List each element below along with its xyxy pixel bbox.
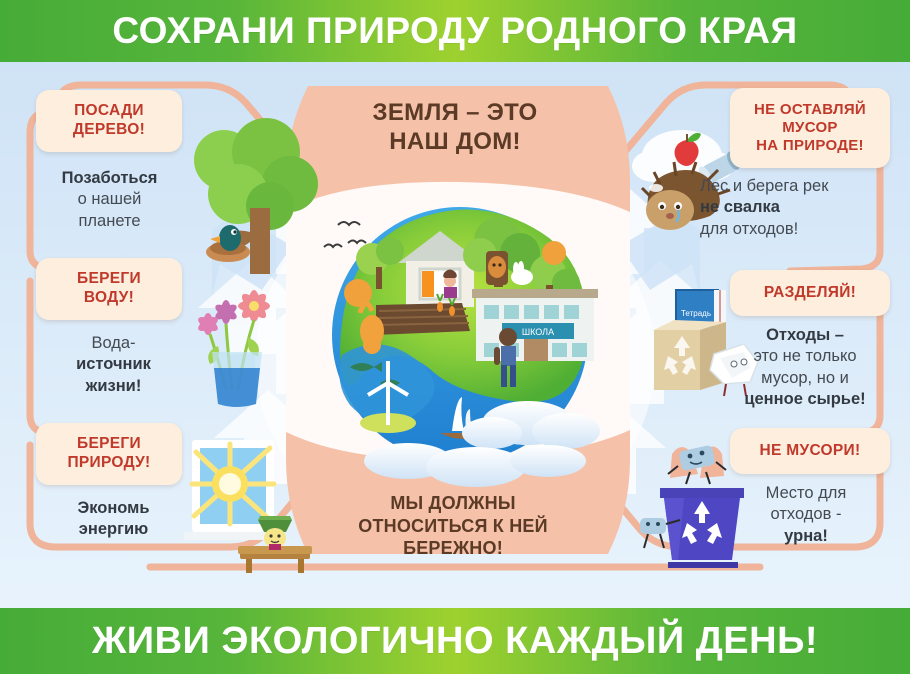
subtext-line2: о нашей (78, 190, 142, 208)
card-title-line2: ДЕРЕВО! (73, 121, 145, 140)
subtext-bold2: источник (76, 355, 151, 373)
card-title-line1: ПОСАДИ (73, 102, 145, 121)
center-footer: МЫ ДОЛЖНЫ ОТНОСИТЬСЯ К НЕЙ БЕРЕЖНО! (288, 492, 618, 560)
subtext-bold3: урна! (784, 527, 828, 545)
bottom-banner: ЖИВИ ЭКОЛОГИЧНО КАЖДЫЙ ДЕНЬ! (0, 608, 910, 674)
card-title-line1: РАЗДЕЛЯЙ! (764, 284, 856, 303)
card-title-line1: НЕ ОСТАВЛЯЙ (754, 101, 866, 119)
card-separate-waste-title: РАЗДЕЛЯЙ! (764, 284, 856, 303)
subtext-line3: планете (78, 212, 140, 230)
card-title-line1: БЕРЕГИ (77, 270, 141, 289)
subtext-line2: отходов - (771, 505, 842, 523)
subtext-line1: Вода- (91, 334, 135, 352)
center-title-line2: НАШ ДОМ! (300, 127, 610, 156)
card-separate-waste-subtext: Отходы – это не только мусор, но и ценно… (712, 325, 898, 411)
top-banner: СОХРАНИ ПРИРОДУ РОДНОГО КРАЯ (0, 0, 910, 62)
subtext-bold1: Отходы – (766, 326, 844, 344)
birds-icon (324, 222, 366, 247)
card-plant-a-tree[interactable]: ПОСАДИ ДЕРЕВО! (36, 90, 182, 152)
school-sign-label: ШКОЛА (522, 327, 554, 337)
subtext-bold: Позаботься (62, 169, 158, 187)
flower-icon (196, 290, 270, 335)
card-no-litter-in-nature-title: НЕ ОСТАВЛЯЙ МУСОР НА ПРИРОДЕ! (754, 101, 866, 155)
subtext-line3: мусор, но и (761, 369, 849, 387)
card-save-water[interactable]: БЕРЕГИ ВОДУ! (36, 258, 182, 320)
eco-poster: ШКОЛА (0, 0, 910, 674)
card-separate-waste[interactable]: РАЗДЕЛЯЙ! (730, 270, 890, 316)
earth-globe-illustration: ШКОЛА (280, 155, 640, 510)
center-title: ЗЕМЛЯ – ЭТО НАШ ДОМ! (300, 98, 610, 157)
center-footer-line1: МЫ ДОЛЖНЫ (288, 492, 618, 515)
card-save-water-title: БЕРЕГИ ВОДУ! (77, 270, 141, 307)
card-plant-a-tree-subtext: Позаботься о нашей планете (22, 168, 197, 232)
top-banner-text: СОХРАНИ ПРИРОДУ РОДНОГО КРАЯ (112, 10, 797, 52)
card-do-not-litter-subtext: Место для отходов - урна! (718, 483, 894, 547)
card-plant-a-tree-title: ПОСАДИ ДЕРЕВО! (73, 102, 145, 139)
card-title-line3: НА ПРИРОДЕ! (754, 137, 866, 155)
subtext-bold2: не свалка (700, 198, 780, 216)
dog-icon (486, 251, 508, 285)
card-title-line2: МУСОР (754, 119, 866, 137)
card-save-nature-subtext: Экономь энергию (26, 498, 201, 541)
card-save-water-subtext: Вода- источник жизни! (26, 333, 201, 397)
card-save-nature[interactable]: БЕРЕГИ ПРИРОДУ! (36, 423, 182, 485)
subtext-bold3: жизни! (86, 377, 142, 395)
subtext-line1: Место для (766, 484, 847, 502)
card-no-litter-in-nature[interactable]: НЕ ОСТАВЛЯЙ МУСОР НА ПРИРОДЕ! (730, 88, 890, 168)
subtext-line3: для отходов! (700, 220, 798, 238)
subtext-line1: Лес и берега рек (700, 177, 828, 195)
card-do-not-litter-title: НЕ МУСОРИ! (760, 442, 861, 461)
subtext-line2: это не только (753, 347, 856, 365)
center-title-line1: ЗЕМЛЯ – ЭТО (300, 98, 610, 127)
card-do-not-litter[interactable]: НЕ МУСОРИ! (730, 428, 890, 474)
card-title-line2: ПРИРОДУ! (67, 454, 150, 473)
center-footer-line2: ОТНОСИТЬСЯ К НЕЙ (288, 515, 618, 538)
subtext-bold2: энергию (79, 520, 148, 538)
subtext-bold4: ценное сырье! (744, 390, 865, 408)
center-footer-line3: БЕРЕЖНО! (288, 537, 618, 560)
card-no-litter-in-nature-subtext: Лес и берега рек не свалка для отходов! (700, 176, 900, 240)
school-building-icon: ШКОЛА (472, 289, 598, 361)
card-save-nature-title: БЕРЕГИ ПРИРОДУ! (67, 435, 150, 472)
card-title-line1: БЕРЕГИ (67, 435, 150, 454)
notebook-label: Тетрадь (681, 309, 711, 318)
card-title-line1: НЕ МУСОРИ! (760, 442, 861, 461)
card-title-line2: ВОДУ! (77, 289, 141, 308)
subtext-bold: Экономь (77, 499, 149, 517)
bottom-banner-text: ЖИВИ ЭКОЛОГИЧНО КАЖДЫЙ ДЕНЬ! (92, 620, 818, 663)
